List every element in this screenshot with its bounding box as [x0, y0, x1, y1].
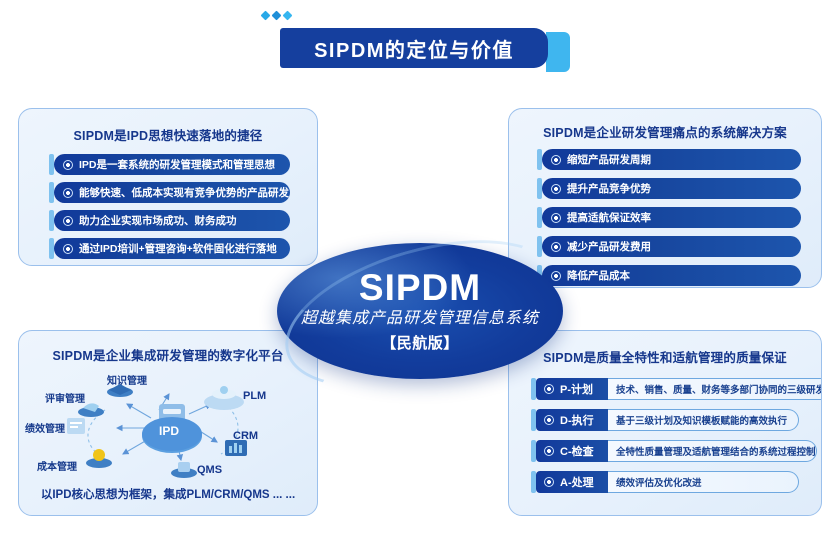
list-item[interactable]: 通过IPD培训+管理咨询+软件固化进行落地 — [49, 238, 299, 259]
list-item[interactable]: C-检查 全特性质量管理及适航管理结合的系统过程控制 — [531, 440, 799, 462]
list-item[interactable]: IPD是一套系统的研发管理模式和管理思想 — [49, 154, 299, 175]
bullet-icon — [551, 271, 561, 281]
pill-body: 降低产品成本 — [542, 265, 801, 286]
pdca-label-block: C-检查 — [536, 440, 608, 462]
panel-bottom-left-caption: 以IPD核心思想为框架，集成PLM/CRM/QMS ... ... — [19, 486, 317, 502]
pill-body: 提高适航保证效率 — [542, 207, 801, 228]
pdca-label: D-执行 — [560, 412, 594, 428]
hub-edition: 【民航版】 — [381, 332, 459, 353]
diagram-label-plm: PLM — [243, 390, 266, 402]
list-item-label: 通过IPD培训+管理咨询+软件固化进行落地 — [79, 241, 277, 256]
pill-body: 减少产品研发费用 — [542, 236, 801, 257]
node-glyph-cost — [86, 449, 112, 468]
pdca-label-block: P-计划 — [536, 378, 608, 400]
diamond-dot-icon — [261, 11, 271, 21]
pill-body: IPD是一套系统的研发管理模式和管理思想 — [54, 154, 290, 175]
panel-top-right: SIPDM是企业研发管理痛点的系统解决方案 缩短产品研发周期 提升产品竞争优势 … — [508, 108, 822, 288]
pdca-label-block: A-处理 — [536, 471, 608, 493]
list-item[interactable]: 提高适航保证效率 — [537, 207, 801, 228]
bullet-icon — [551, 184, 561, 194]
list-item-label: 提高适航保证效率 — [567, 210, 651, 225]
list-item[interactable]: 提升产品竞争优势 — [537, 178, 801, 199]
panel-top-left: SIPDM是IPD思想快速落地的捷径 IPD是一套系统的研发管理模式和管理思想 … — [18, 108, 318, 266]
list-item-label: 能够快速、低成本实现有竞争优势的产品研发 — [79, 185, 289, 200]
list-item-label: 提升产品竞争优势 — [567, 181, 651, 196]
diagram-label-performance: 绩效管理 — [25, 420, 65, 435]
decorative-dots — [262, 12, 291, 19]
node-glyph-plm — [204, 386, 244, 410]
center-hub: SIPDM 超越集成产品研发管理信息系统 【民航版】 — [277, 243, 563, 379]
list-item[interactable]: 降低产品成本 — [537, 265, 801, 286]
pill-body: 助力企业实现市场成功、财务成功 — [54, 210, 290, 231]
node-glyph-crm — [225, 440, 247, 456]
panel-top-right-title: SIPDM是企业研发管理痛点的系统解决方案 — [509, 122, 821, 141]
list-item[interactable]: P-计划 技术、销售、质量、财务等多部门协同的三级研发计划 — [531, 378, 799, 400]
hub-title: SIPDM — [359, 269, 481, 306]
node-glyph-review — [78, 403, 104, 417]
bullet-icon — [63, 244, 73, 254]
panel-top-right-list: 缩短产品研发周期 提升产品竞争优势 提高适航保证效率 减少产品研发费用 — [537, 149, 801, 286]
pdca-description: 基于三级计划及知识模板赋能的高效执行 — [608, 409, 799, 431]
diagram-label-knowledge: 知识管理 — [107, 372, 147, 387]
diagram-label-crm: CRM — [233, 430, 258, 442]
pdca-description: 技术、销售、质量、财务等多部门协同的三级研发计划 — [608, 378, 822, 400]
bullet-icon — [63, 160, 73, 170]
list-item[interactable]: A-处理 绩效评估及优化改进 — [531, 471, 799, 493]
pdca-list: P-计划 技术、销售、质量、财务等多部门协同的三级研发计划 D-执行 基于三级计… — [531, 378, 799, 493]
pdca-label: C-检查 — [560, 443, 594, 459]
panel-top-left-title: SIPDM是IPD思想快速落地的捷径 — [19, 125, 317, 144]
pdca-description: 绩效评估及优化改进 — [608, 471, 799, 493]
bullet-icon — [63, 188, 73, 198]
diagram-label-ipd-center: IPD — [159, 424, 179, 438]
page-title-banner: SIPDM的定位与价值 — [280, 28, 570, 68]
panel-bottom-left: SIPDM是企业集成研发管理的数字化平台 — [18, 330, 318, 516]
list-item[interactable]: 助力企业实现市场成功、财务成功 — [49, 210, 299, 231]
bullet-icon — [551, 213, 561, 223]
list-item[interactable]: 能够快速、低成本实现有竞争优势的产品研发 — [49, 182, 299, 203]
pdca-label: P-计划 — [560, 381, 593, 397]
bullet-icon — [544, 384, 554, 394]
bullet-icon — [544, 415, 554, 425]
pdca-label: A-处理 — [560, 474, 594, 490]
diamond-dot-icon — [272, 11, 282, 21]
node-glyph-performance — [67, 418, 85, 434]
bullet-icon — [551, 242, 561, 252]
bullet-icon — [544, 477, 554, 487]
hub-subtitle: 超越集成产品研发管理信息系统 — [301, 310, 539, 328]
diagram-label-qms: QMS — [197, 464, 222, 476]
node-glyph-qms — [171, 462, 197, 478]
pill-body: 通过IPD培训+管理咨询+软件固化进行落地 — [54, 238, 290, 259]
diagram-label-cost: 成本管理 — [37, 458, 77, 473]
list-item-label: 缩短产品研发周期 — [567, 152, 651, 167]
list-item[interactable]: D-执行 基于三级计划及知识模板赋能的高效执行 — [531, 409, 799, 431]
panel-bottom-right: SIPDM是质量全特性和适航管理的质量保证 P-计划 技术、销售、质量、财务等多… — [508, 330, 822, 516]
bullet-icon — [544, 446, 554, 456]
pdca-label-block: D-执行 — [536, 409, 608, 431]
list-item-label: 降低产品成本 — [567, 268, 630, 283]
list-item-label: 助力企业实现市场成功、财务成功 — [79, 213, 237, 228]
banner-accent-shape — [546, 32, 570, 72]
pill-body: 能够快速、低成本实现有竞争优势的产品研发 — [54, 182, 290, 203]
pdca-description: 全特性质量管理及适航管理结合的系统过程控制 — [608, 440, 817, 462]
list-item-label: 减少产品研发费用 — [567, 239, 651, 254]
pill-body: 缩短产品研发周期 — [542, 149, 801, 170]
list-item[interactable]: 减少产品研发费用 — [537, 236, 801, 257]
list-item[interactable]: 缩短产品研发周期 — [537, 149, 801, 170]
list-item-label: IPD是一套系统的研发管理模式和管理思想 — [79, 157, 275, 172]
page-title: SIPDM的定位与价值 — [314, 34, 514, 63]
ipd-hub-diagram: 知识管理 PLM CRM QMS 成本管理 绩效管理 评审管理 IPD — [19, 366, 317, 484]
banner-main-block: SIPDM的定位与价值 — [280, 28, 548, 68]
diamond-dot-icon — [283, 11, 293, 21]
panel-top-left-list: IPD是一套系统的研发管理模式和管理思想 能够快速、低成本实现有竞争优势的产品研… — [49, 154, 299, 259]
panel-bottom-left-title: SIPDM是企业集成研发管理的数字化平台 — [19, 345, 317, 364]
diagram-label-review: 评审管理 — [45, 390, 85, 405]
panel-bottom-right-title: SIPDM是质量全特性和适航管理的质量保证 — [509, 347, 821, 366]
bullet-icon — [63, 216, 73, 226]
pill-body: 提升产品竞争优势 — [542, 178, 801, 199]
bullet-icon — [551, 155, 561, 165]
